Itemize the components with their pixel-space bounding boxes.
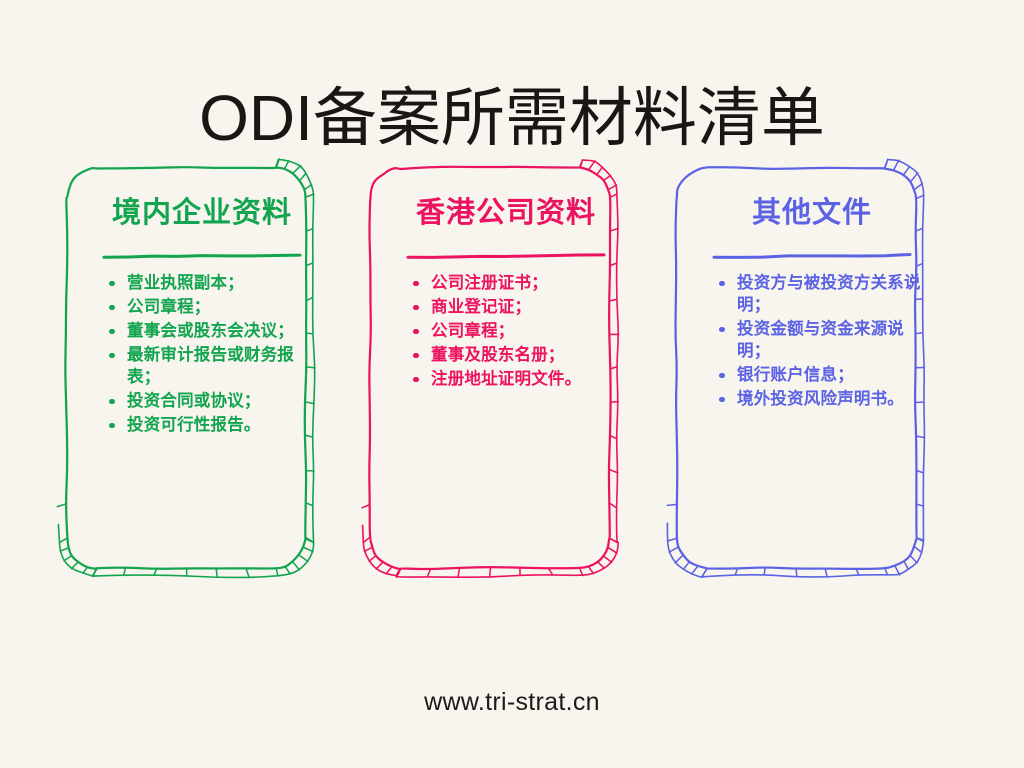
card-divider — [102, 247, 302, 255]
bullet-dot-icon — [109, 305, 115, 311]
bullet-dot-icon — [413, 281, 419, 287]
list-item-label: 董事及股东名册； — [431, 346, 565, 364]
card-title: 香港公司资料 — [416, 198, 596, 230]
list-item-label: 银行账户信息； — [737, 366, 854, 384]
card-body: 香港公司资料公司注册证书；商业登记证；公司章程；董事及股东名册；注册地址证明文件… — [372, 160, 640, 608]
bullet-dot-icon — [413, 305, 419, 311]
list-item: 投资方与被投资方关系说明； — [716, 273, 924, 317]
list-item: 投资金额与资金来源说明； — [716, 319, 924, 363]
list-item: 最新审计报告或财务报表； — [106, 345, 314, 389]
infographic-page: ODI备案所需材料清单 境内企业资料营业执照副本；公司章程；董事会或股东会决议；… — [0, 0, 1024, 768]
card-body: 其他文件投资方与被投资方关系说明；投资金额与资金来源说明；银行账户信息；境外投资… — [678, 160, 946, 608]
card-row: 境内企业资料营业执照副本；公司章程；董事会或股东会决议；最新审计报告或财务报表；… — [0, 160, 1024, 620]
list-item-label: 营业执照副本； — [127, 274, 244, 292]
list-item: 商业登记证； — [410, 297, 618, 319]
list-item-label: 公司章程； — [127, 298, 211, 316]
card-hongkong-company: 香港公司资料公司注册证书；商业登记证；公司章程；董事及股东名册；注册地址证明文件… — [372, 160, 640, 608]
bullet-dot-icon — [413, 377, 419, 383]
list-item-label: 投资金额与资金来源说明； — [737, 320, 904, 360]
list-item: 公司注册证书； — [410, 273, 618, 295]
card-item-list: 公司注册证书；商业登记证；公司章程；董事及股东名册；注册地址证明文件。 — [394, 273, 618, 393]
card-item-list: 营业执照副本；公司章程；董事会或股东会决议；最新审计报告或财务报表；投资合同或协… — [90, 273, 314, 439]
list-item: 公司章程； — [410, 321, 618, 343]
card-other-documents: 其他文件投资方与被投资方关系说明；投资金额与资金来源说明；银行账户信息；境外投资… — [678, 160, 946, 608]
bullet-dot-icon — [109, 353, 115, 359]
list-item: 营业执照副本； — [106, 273, 314, 295]
footer-url: www.tri-strat.cn — [0, 688, 1024, 717]
list-item: 公司章程； — [106, 297, 314, 319]
list-item-label: 公司章程； — [431, 322, 515, 340]
bullet-dot-icon — [719, 397, 725, 403]
list-item-label: 投资可行性报告。 — [127, 416, 261, 434]
card-divider — [406, 247, 606, 255]
bullet-dot-icon — [719, 373, 725, 379]
list-item: 投资合同或协议； — [106, 391, 314, 413]
list-item: 注册地址证明文件。 — [410, 369, 618, 391]
card-item-list: 投资方与被投资方关系说明；投资金额与资金来源说明；银行账户信息；境外投资风险声明… — [700, 273, 924, 413]
list-item-label: 公司注册证书； — [431, 274, 548, 292]
list-item: 董事及股东名册； — [410, 345, 618, 367]
page-title: ODI备案所需材料清单 — [0, 85, 1024, 152]
bullet-dot-icon — [109, 423, 115, 429]
bullet-dot-icon — [719, 281, 725, 287]
card-title: 境内企业资料 — [112, 198, 292, 230]
card-domestic-enterprise: 境内企业资料营业执照副本；公司章程；董事会或股东会决议；最新审计报告或财务报表；… — [68, 160, 336, 608]
bullet-dot-icon — [413, 329, 419, 335]
list-item-label: 境外投资风险声明书。 — [737, 390, 904, 408]
card-body: 境内企业资料营业执照副本；公司章程；董事会或股东会决议；最新审计报告或财务报表；… — [68, 160, 336, 608]
list-item: 投资可行性报告。 — [106, 415, 314, 437]
bullet-dot-icon — [109, 329, 115, 335]
card-divider — [712, 247, 912, 255]
list-item: 银行账户信息； — [716, 365, 924, 387]
list-item-label: 最新审计报告或财务报表； — [127, 346, 294, 386]
bullet-dot-icon — [719, 327, 725, 333]
list-item-label: 商业登记证； — [431, 298, 531, 316]
list-item: 董事会或股东会决议； — [106, 321, 314, 343]
bullet-dot-icon — [109, 281, 115, 287]
list-item: 境外投资风险声明书。 — [716, 389, 924, 411]
list-item-label: 投资合同或协议； — [127, 392, 261, 410]
list-item-label: 董事会或股东会决议； — [127, 322, 294, 340]
card-title: 其他文件 — [752, 198, 872, 230]
bullet-dot-icon — [413, 353, 419, 359]
list-item-label: 注册地址证明文件。 — [431, 370, 581, 388]
list-item-label: 投资方与被投资方关系说明； — [737, 274, 921, 314]
bullet-dot-icon — [109, 399, 115, 405]
